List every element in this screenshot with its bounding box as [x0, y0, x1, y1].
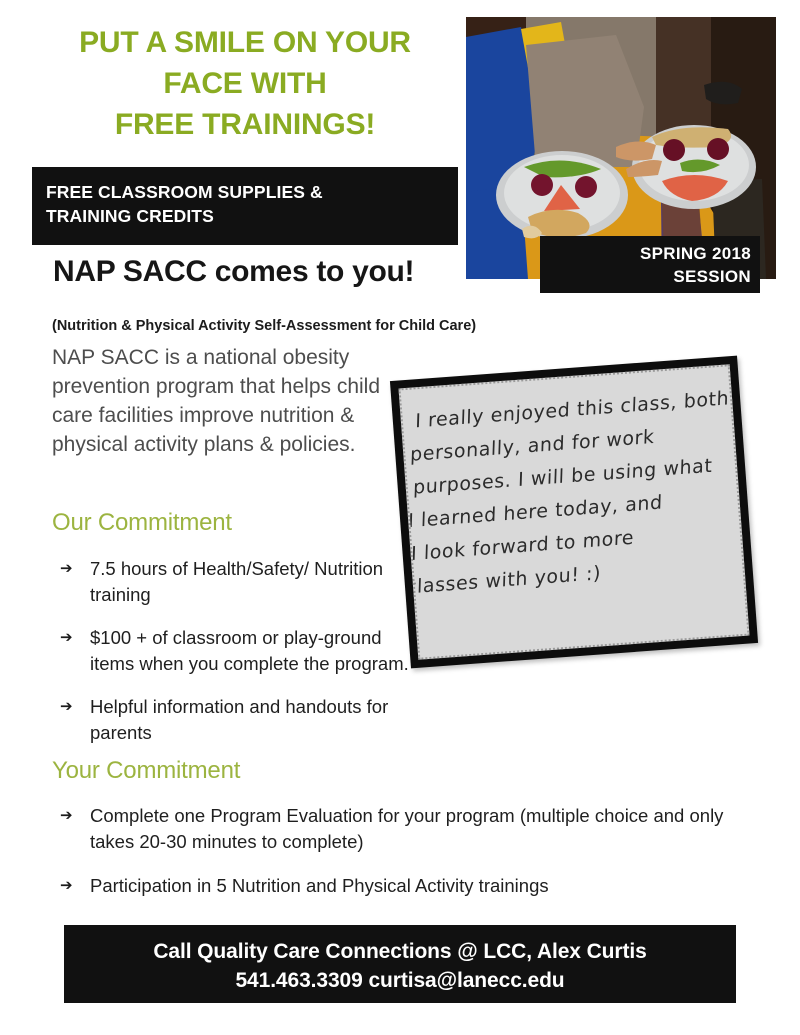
arrow-bullet-icon: ➔ — [60, 694, 73, 720]
note-paper: I really enjoyed this class, both person… — [398, 364, 749, 660]
handwritten-testimonial-card: I really enjoyed this class, both person… — [390, 356, 758, 669]
section-heading-our-commitment: Our Commitment — [52, 509, 232, 537]
list-item: ➔ Participation in 5 Nutrition and Physi… — [60, 873, 770, 899]
page-subtitle: (Nutrition & Physical Activity Self-Asse… — [52, 318, 476, 334]
note-handwriting: I really enjoyed this class, both person… — [410, 383, 717, 604]
arrow-bullet-icon: ➔ — [60, 803, 73, 829]
list-item: ➔ Helpful information and handouts for p… — [60, 694, 410, 746]
headline-line-1: PUT A SMILE ON YOUR — [30, 22, 460, 63]
list-item-label: $100 + of classroom or play-ground items… — [90, 625, 410, 677]
contact-line-2: 541.463.3309 curtisa@lanecc.edu — [64, 966, 736, 995]
page-headline: PUT A SMILE ON YOUR FACE WITH FREE TRAIN… — [30, 22, 460, 145]
session-line-1: SPRING 2018 — [540, 242, 751, 265]
list-item-label: Participation in 5 Nutrition and Physica… — [90, 873, 770, 899]
arrow-bullet-icon: ➔ — [60, 873, 73, 899]
supplies-line-1: FREE CLASSROOM SUPPLIES & — [46, 180, 458, 204]
contact-line-1: Call Quality Care Connections @ LCC, Ale… — [64, 937, 736, 966]
arrow-bullet-icon: ➔ — [60, 625, 73, 651]
arrow-bullet-icon: ➔ — [60, 556, 73, 582]
intro-paragraph: NAP SACC is a national obesity preventio… — [52, 343, 404, 459]
list-item-label: 7.5 hours of Health/Safety/ Nutrition tr… — [90, 556, 410, 608]
supplies-line-2: TRAINING CREDITS — [46, 204, 458, 228]
flyer-page: PUT A SMILE ON YOUR FACE WITH FREE TRAIN… — [0, 0, 800, 1035]
contact-banner: Call Quality Care Connections @ LCC, Ale… — [64, 925, 736, 1003]
page-title: NAP SACC comes to you! — [53, 255, 414, 289]
session-badge: SPRING 2018 SESSION — [540, 236, 760, 293]
your-commitment-list: ➔ Complete one Program Evaluation for yo… — [60, 803, 770, 917]
our-commitment-list: ➔ 7.5 hours of Health/Safety/ Nutrition … — [60, 556, 410, 763]
list-item: ➔ Complete one Program Evaluation for yo… — [60, 803, 770, 855]
section-heading-your-commitment: Your Commitment — [52, 757, 240, 785]
headline-line-2: FACE WITH — [30, 63, 460, 104]
list-item: ➔ 7.5 hours of Health/Safety/ Nutrition … — [60, 556, 410, 608]
list-item: ➔ $100 + of classroom or play-ground ite… — [60, 625, 410, 677]
list-item-label: Complete one Program Evaluation for your… — [90, 803, 770, 855]
session-line-2: SESSION — [540, 265, 751, 288]
list-item-label: Helpful information and handouts for par… — [90, 694, 410, 746]
headline-line-3: FREE TRAININGS! — [30, 104, 460, 145]
free-supplies-banner: FREE CLASSROOM SUPPLIES & TRAINING CREDI… — [32, 167, 458, 245]
